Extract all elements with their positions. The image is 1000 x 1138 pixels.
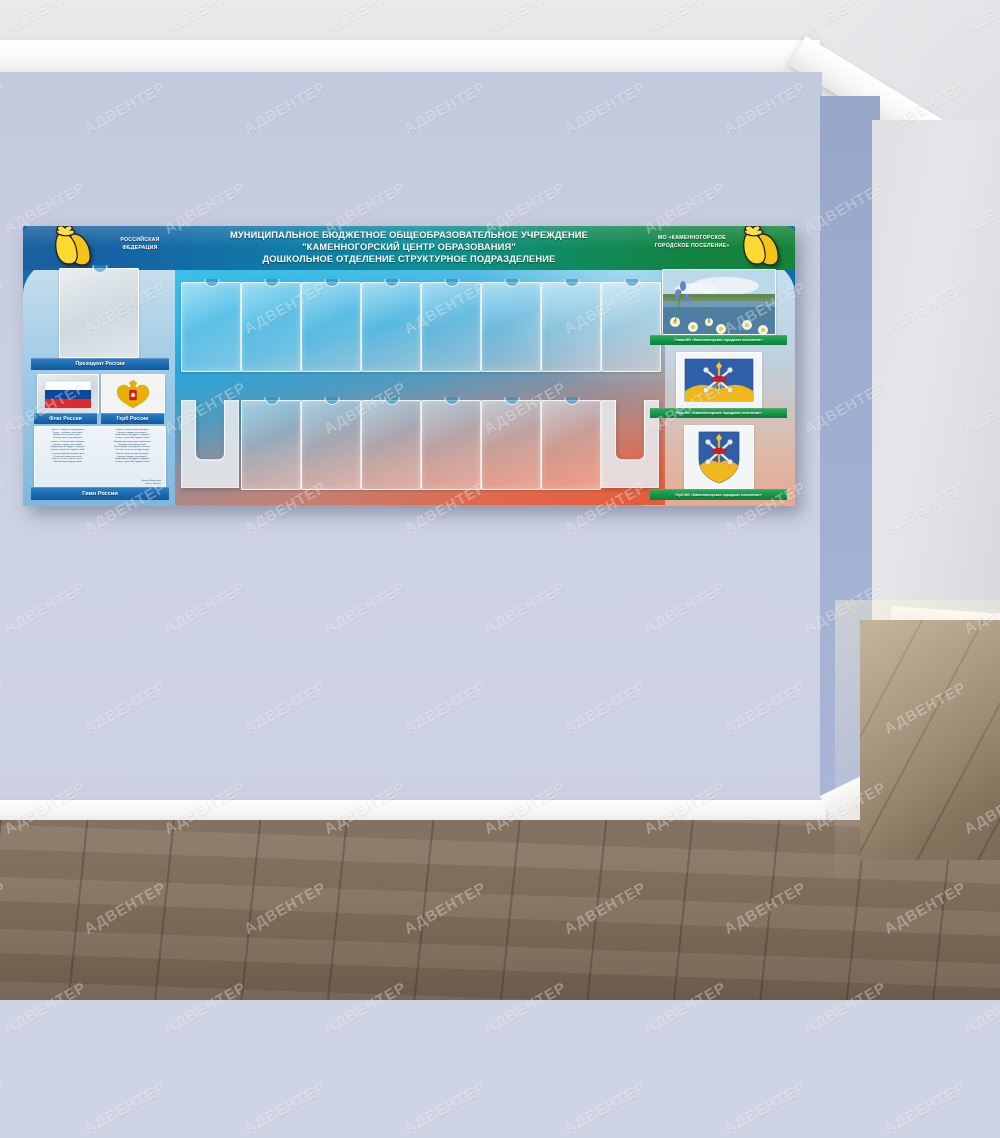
floor-planks: [0, 820, 1000, 1000]
document-pocket[interactable]: [541, 282, 601, 372]
municipality-emblem-frame: [684, 425, 754, 489]
anthem-stanza: Широкий простор для мечты и для жизниГря…: [102, 441, 164, 451]
anthem-signature-line: Слова: С. Михалков: [142, 483, 161, 485]
header-right-label: МО «КАМЕННОГОРСКОЕ ГОРОДСКОЕ ПОСЕЛЕНИЕ»: [640, 235, 744, 250]
document-pocket[interactable]: [541, 400, 601, 490]
pocket-thumb-notch: [505, 400, 518, 406]
header-right-line-1: МО «КАМЕННОГОРСКОЕ: [640, 235, 744, 243]
pocket-thumb-notch: [325, 400, 338, 406]
anthem-verse-right: Славься, Отечество наше свободное,Братск…: [102, 429, 164, 483]
municipality-emblem-label: Герб МО «Каменногорское городское поселе…: [650, 489, 787, 500]
document-pocket[interactable]: [421, 282, 481, 372]
kamennogorsk-flag-icon: [677, 353, 761, 407]
header-left-line-2: ФЕДЕРАЦИЯ: [99, 245, 181, 253]
watermark-text: АДВЕНТЕР: [402, 1079, 490, 1138]
pocket-thumb-notch: [565, 400, 578, 406]
document-pocket[interactable]: [361, 400, 421, 490]
board-title-line-2: "КАМЕННОГОРСКИЙ ЦЕНТР ОБРАЗОВАНИЯ": [183, 241, 635, 253]
watermark-text: АДВЕНТЕР: [882, 1079, 970, 1138]
watermark-text: АДВЕНТЕР: [562, 1079, 650, 1138]
landscape-photo-icon: [663, 270, 775, 334]
kamennogorsk-emblem-icon: [685, 426, 753, 488]
anthem-stanza: Славься, Отечество наше свободное,Братск…: [102, 453, 164, 463]
pocket-thumb-notch: [205, 282, 218, 288]
header-right-line-2: ГОРОДСКОЕ ПОСЕЛЕНИЕ»: [640, 243, 744, 251]
document-pocket[interactable]: [241, 282, 301, 372]
cornice-molding: [0, 40, 820, 76]
pocket-thumb-notch: [445, 400, 458, 406]
anthem-stanza: Славься, Отечество наше свободное,Братск…: [102, 429, 164, 439]
anthem-verse-left: Россия — священная наша держава,Россия —…: [37, 429, 99, 483]
board-center-field: [175, 270, 665, 505]
anthem-text-panel: Россия — священная наша держава,Россия —…: [34, 426, 166, 488]
watermark-text: АДВЕНТЕР: [0, 1079, 9, 1138]
russia-emblem-label: Герб России: [101, 413, 164, 424]
pocket-thumb-notch: [505, 282, 518, 288]
leaflet-holder-shape: [181, 400, 239, 488]
header-left-line-1: РОССИЙСКАЯ: [99, 237, 181, 245]
floor-planks-side: [860, 620, 1000, 860]
president-label: Президент России: [31, 358, 169, 370]
board-title: МУНИЦИПАЛЬНОЕ БЮДЖЕТНОЕ ОБЩЕОБРАЗОВАТЕЛЬ…: [183, 229, 635, 265]
russia-symbols-column: Президент России Флаг России Герб России: [31, 266, 169, 502]
document-pocket[interactable]: [181, 282, 241, 372]
document-pocket[interactable]: [421, 400, 481, 490]
document-pocket[interactable]: [301, 282, 361, 372]
russia-emblem-icon: [102, 375, 164, 413]
pocket-thumb-notch: [445, 282, 458, 288]
pocket-thumb-notch: [625, 282, 638, 288]
leaflet-holder[interactable]: [181, 400, 239, 488]
board-header: РОССИЙСКАЯ ФЕДЕРАЦИЯ МУНИЦИПАЛЬНОЕ БЮДЖЕ…: [23, 226, 795, 270]
russia-flag-icon: [38, 375, 98, 413]
watermark-text: АДВЕНТЕР: [82, 1079, 170, 1138]
anthem-stanza: Славься, Отечество наше свободное,Братск…: [37, 441, 99, 451]
pocket-thumb-notch: [565, 282, 578, 288]
watermark-text: АДВЕНТЕР: [722, 1079, 810, 1138]
board-title-line-3: ДОШКОЛЬНОЕ ОТДЕЛЕНИЕ СТРУКТУРНОЕ ПОДРАЗД…: [183, 253, 635, 265]
board-title-line-1: МУНИЦИПАЛЬНОЕ БЮДЖЕТНОЕ ОБЩЕОБРАЗОВАТЕЛЬ…: [183, 229, 635, 241]
municipality-head-label: Глава МО «Каменногорское городское посел…: [650, 335, 787, 345]
document-pocket[interactable]: [481, 282, 541, 372]
pocket-thumb-notch: [265, 282, 278, 288]
municipality-head-photo[interactable]: [662, 269, 776, 335]
president-photo-pocket[interactable]: [59, 268, 139, 358]
document-pocket[interactable]: [301, 400, 361, 490]
document-pocket[interactable]: [361, 282, 421, 372]
document-pocket[interactable]: [481, 400, 541, 490]
municipality-flag-frame: [676, 352, 762, 408]
russia-emblem-frame: [101, 374, 165, 414]
municipality-symbols-column: Глава МО «Каменногорское городское посел…: [650, 266, 787, 502]
anthem-label: Гимн России: [31, 487, 169, 500]
russia-flag-label: Флаг России: [34, 413, 97, 424]
bells-icon: [44, 226, 100, 270]
municipality-flag-label: Флаг МО «Каменногорское городское поселе…: [650, 408, 787, 418]
information-board[interactable]: РОССИЙСКАЯ ФЕДЕРАЦИЯ МУНИЦИПАЛЬНОЕ БЮДЖЕ…: [23, 226, 795, 505]
bells-icon: [732, 226, 788, 270]
pocket-thumb-notch: [385, 400, 398, 406]
watermark-text: АДВЕНТЕР: [242, 1079, 330, 1138]
anthem-signature: Музыка: А. АлександровСлова: С. Михалков: [142, 480, 161, 485]
wall-far: [872, 120, 1000, 640]
pocket-thumb-notch: [385, 282, 398, 288]
pocket-thumb-notch: [325, 282, 338, 288]
document-pocket[interactable]: [241, 400, 301, 490]
header-left-label: РОССИЙСКАЯ ФЕДЕРАЦИЯ: [99, 237, 181, 252]
pocket-thumb-notch: [265, 400, 278, 406]
russia-flag-frame: [37, 374, 99, 414]
anthem-stanza: Россия — священная наша держава,Россия —…: [37, 429, 99, 439]
anthem-stanza: От южных морей до полярного краяРаскинул…: [37, 453, 99, 463]
